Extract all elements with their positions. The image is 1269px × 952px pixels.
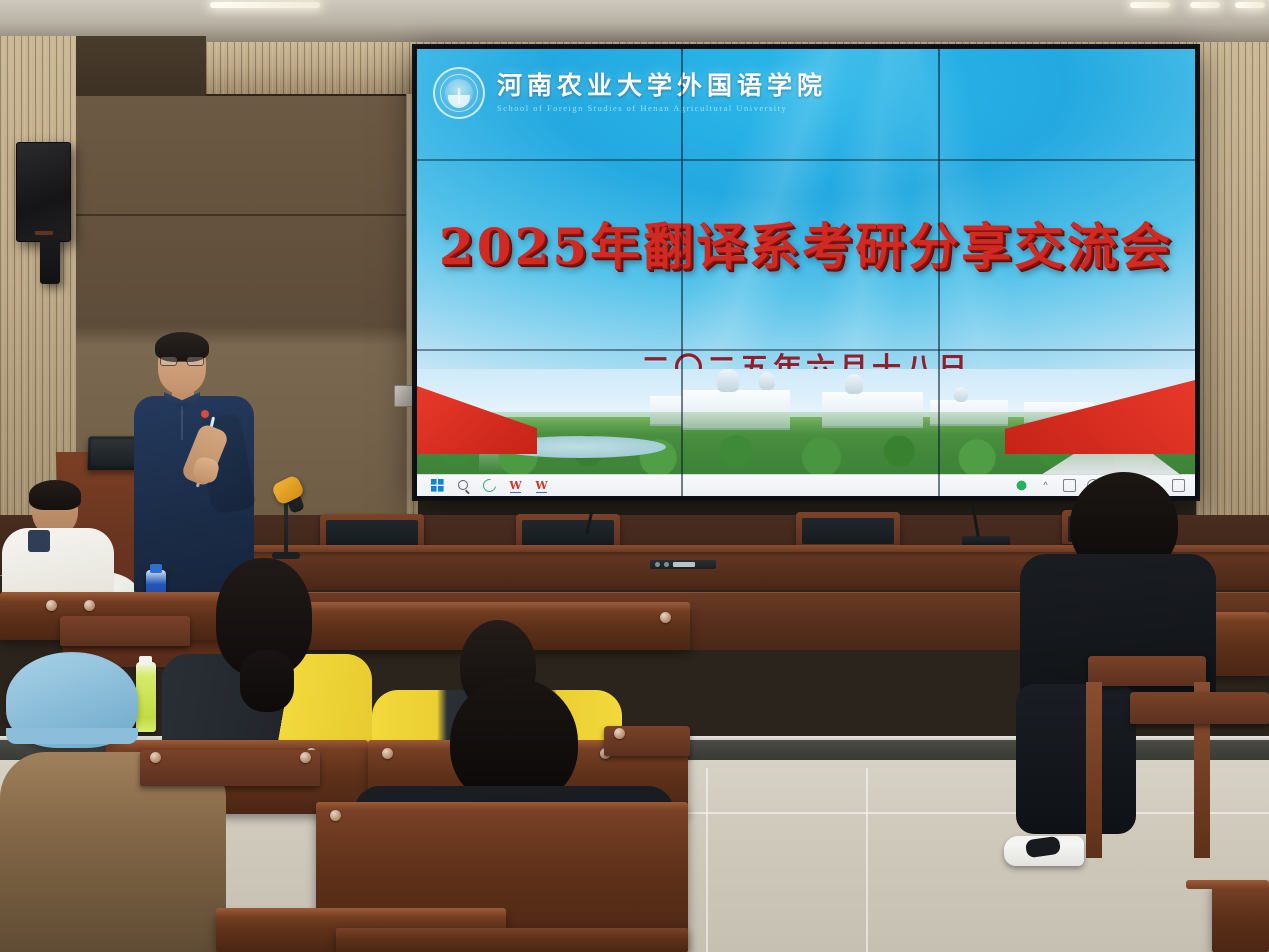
- audience-chair: [1130, 692, 1269, 724]
- attendee-collar: [28, 530, 50, 552]
- desk-knob: [330, 810, 341, 821]
- control-strip: [673, 562, 695, 567]
- school-name-cn: 河南农业大学外国语学院: [497, 73, 827, 99]
- lcd-bezel-seam-vertical: [681, 49, 683, 496]
- school-name-en: School of Foreign Studies of Henan Agric…: [497, 103, 827, 113]
- audience-chair: [140, 750, 320, 786]
- audience-desk-edge: [1186, 880, 1269, 889]
- university-crest-icon: [433, 67, 485, 119]
- chair-knob: [150, 752, 161, 763]
- audience-desk-edge: [316, 802, 688, 811]
- windows-start-icon[interactable]: [431, 479, 444, 492]
- bottle-cap: [150, 564, 162, 573]
- panel-seam: [76, 214, 406, 216]
- slide-title: 2025年翻译系考研分享交流会: [417, 207, 1195, 279]
- edge-browser-icon[interactable]: [480, 476, 498, 494]
- chair-leg: [1128, 720, 1146, 910]
- lecture-hall-photo: 河南农业大学外国语学院 School of Foreign Studies of…: [0, 0, 1269, 952]
- attendee-black-right: [1012, 472, 1224, 802]
- wall-speaker: [16, 142, 71, 242]
- wall-panel: [76, 36, 206, 96]
- floor-tile-line: [866, 768, 868, 952]
- cap-band: [6, 728, 138, 744]
- lcd-bezel-seam-vertical: [938, 49, 940, 496]
- stage-chair-pad: [326, 520, 418, 546]
- desk-knob: [84, 600, 95, 611]
- pointer-tip: [201, 410, 209, 418]
- speaker-mount: [40, 238, 60, 284]
- stage-chair-pad: [802, 518, 894, 544]
- presentation-slide: 河南农业大学外国语学院 School of Foreign Studies of…: [417, 49, 1195, 496]
- presenter-placket: [181, 406, 183, 440]
- chair-knob: [300, 752, 311, 763]
- audience-chair: [60, 616, 190, 646]
- campus-photo: [417, 369, 1195, 474]
- attendee-ponytail: [240, 650, 294, 712]
- audience-desk-edge: [216, 908, 506, 917]
- search-icon[interactable]: [457, 479, 470, 492]
- audience-chair: [1088, 656, 1206, 686]
- ceiling-light: [1130, 2, 1170, 8]
- microphone-stand: [284, 498, 288, 558]
- wps-office-icon[interactable]: W: [535, 479, 548, 492]
- ceiling-light: [1190, 2, 1220, 8]
- stage-chair-pad: [522, 520, 614, 546]
- audience-desk-front: [336, 928, 688, 952]
- lcd-video-wall[interactable]: 河南农业大学外国语学院 School of Foreign Studies of…: [414, 46, 1198, 499]
- stage-control-panel[interactable]: [650, 560, 716, 569]
- slide-header: 河南农业大学外国语学院 School of Foreign Studies of…: [433, 67, 827, 119]
- ceiling-light: [1235, 2, 1265, 8]
- presenter-glasses: [160, 357, 204, 366]
- chair-leg: [1086, 682, 1102, 858]
- lcd-bezel-seam-horizontal: [417, 349, 1195, 351]
- desk-knob: [660, 612, 671, 623]
- wps-writer-icon[interactable]: W: [509, 479, 522, 492]
- taskbar-left-group: W W: [417, 479, 548, 492]
- audience-desk: [1212, 884, 1269, 952]
- desk-knob: [46, 600, 57, 611]
- chair-knob: [614, 728, 625, 739]
- control-dot: [664, 562, 669, 567]
- attendee-hair: [29, 480, 81, 510]
- floor-tile-line: [706, 768, 708, 952]
- control-dot: [655, 562, 660, 567]
- attendee-legs: [1016, 684, 1136, 834]
- ceiling-light: [210, 2, 320, 8]
- lcd-bezel-seam-horizontal: [417, 159, 1195, 161]
